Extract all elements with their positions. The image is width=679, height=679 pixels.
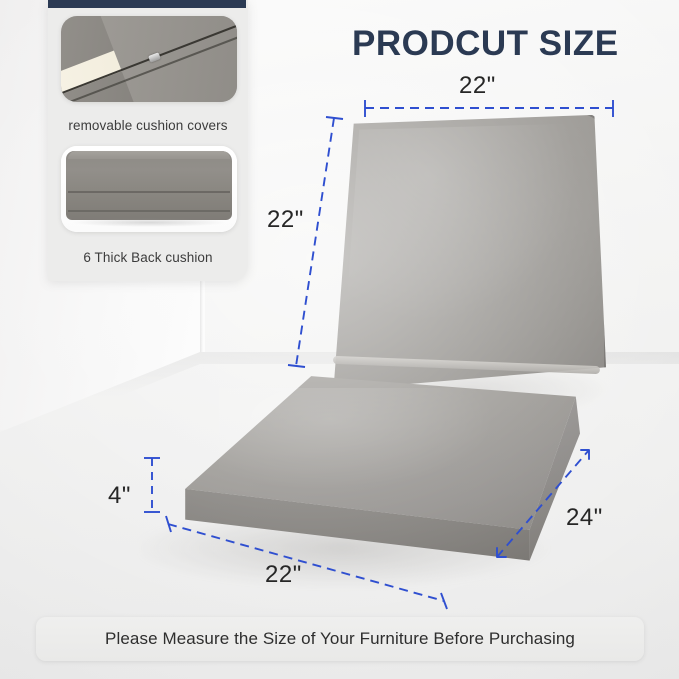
back-cushion-photo-top-edge xyxy=(68,151,230,159)
back-cushion-photo xyxy=(61,146,237,232)
back-cushion-photo-shadow xyxy=(72,218,227,227)
infographic-canvas: 22" 22" 4" 22" 24" PRODCUT SIZE removabl… xyxy=(0,0,679,679)
back-cushion xyxy=(316,112,606,402)
dimension-label-back-height: 22" xyxy=(267,206,304,234)
back-cushion-photo-seam-lower xyxy=(68,210,230,212)
dimension-label-back-width: 22" xyxy=(459,72,496,100)
dimension-label-seat-depth: 24" xyxy=(566,504,603,532)
notice-banner: Please Measure the Size of Your Furnitur… xyxy=(36,617,644,661)
zipper-photo xyxy=(61,16,237,102)
back-cushion-photo-seam-upper xyxy=(68,191,230,193)
feature-caption-removable-covers: removable cushion covers xyxy=(48,118,248,133)
page-title: PRODCUT SIZE xyxy=(352,24,619,64)
feature-panel-accent-bar xyxy=(48,0,246,8)
seat-cushion xyxy=(160,372,580,577)
dimension-label-seat-width: 22" xyxy=(265,561,302,589)
feature-caption-thick-back-cushion: 6 Thick Back cushion xyxy=(48,250,248,265)
dimension-label-seat-thickness: 4" xyxy=(108,482,131,510)
notice-banner-text: Please Measure the Size of Your Furnitur… xyxy=(105,629,575,649)
